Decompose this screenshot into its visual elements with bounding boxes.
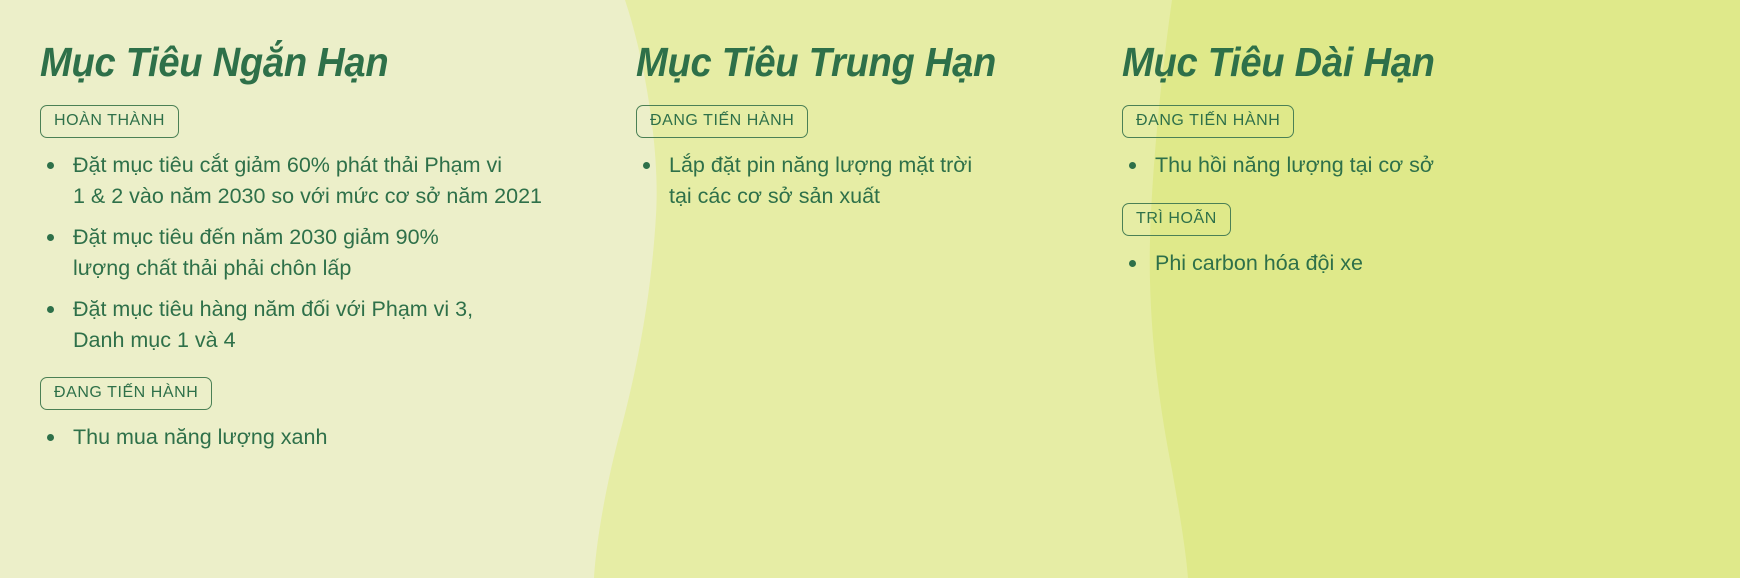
column-title-long-term: Mục Tiêu Dài Hạn <box>1122 42 1661 83</box>
list-item-line: Thu hồi năng lượng tại cơ sở <box>1155 150 1702 181</box>
status-badge[interactable]: TRÌ HOÃN <box>1122 203 1231 236</box>
goal-group: HOÀN THÀNH Đặt mục tiêu cắt giảm 60% phá… <box>40 105 600 355</box>
list-item: Đặt mục tiêu đến năm 2030 giảm 90% lượng… <box>40 222 600 283</box>
status-badge-wrap: HOÀN THÀNH <box>40 105 600 138</box>
column-long-term: Mục Tiêu Dài Hạn ĐANG TIẾN HÀNH Thu hồi … <box>1122 0 1702 278</box>
list-item: Thu mua năng lượng xanh <box>40 422 600 453</box>
column-medium-term: Mục Tiêu Trung Hạn ĐANG TIẾN HÀNH Lắp đặ… <box>636 0 1066 211</box>
list-item-line: Danh mục 1 và 4 <box>73 325 600 356</box>
goals-panel: Mục Tiêu Ngắn Hạn HOÀN THÀNH Đặt mục tiê… <box>0 0 1740 578</box>
list-item: Thu hồi năng lượng tại cơ sở <box>1122 150 1702 181</box>
status-badge[interactable]: ĐANG TIẾN HÀNH <box>40 377 212 410</box>
list-item-line: Đặt mục tiêu cắt giảm 60% phát thải Phạm… <box>73 150 600 181</box>
list-item: Phi carbon hóa đội xe <box>1122 248 1702 279</box>
list-item-line: 1 & 2 vào năm 2030 so với mức cơ sở năm … <box>73 181 600 212</box>
status-badge-wrap: ĐANG TIẾN HÀNH <box>636 105 1066 138</box>
status-badge-wrap: ĐANG TIẾN HÀNH <box>1122 105 1702 138</box>
goal-group: TRÌ HOÃN Phi carbon hóa đội xe <box>1122 203 1702 279</box>
status-badge[interactable]: ĐANG TIẾN HÀNH <box>1122 105 1294 138</box>
list-item: Đặt mục tiêu cắt giảm 60% phát thải Phạm… <box>40 150 600 211</box>
goal-list: Thu mua năng lượng xanh <box>40 422 600 453</box>
goal-list: Thu hồi năng lượng tại cơ sở <box>1122 150 1702 181</box>
column-title-medium-term: Mục Tiêu Trung Hạn <box>636 42 1036 83</box>
list-item-line: Đặt mục tiêu hàng năm đối với Phạm vi 3, <box>73 294 600 325</box>
goal-list: Phi carbon hóa đội xe <box>1122 248 1702 279</box>
list-item-line: Phi carbon hóa đội xe <box>1155 248 1702 279</box>
status-badge-wrap: ĐANG TIẾN HÀNH <box>40 377 600 410</box>
list-item-line: lượng chất thải phải chôn lấp <box>73 253 600 284</box>
column-title-short-term: Mục Tiêu Ngắn Hạn <box>40 42 561 83</box>
list-item-line: Thu mua năng lượng xanh <box>73 422 600 453</box>
status-badge[interactable]: ĐANG TIẾN HÀNH <box>636 105 808 138</box>
status-badge[interactable]: HOÀN THÀNH <box>40 105 179 138</box>
goal-group: ĐANG TIẾN HÀNH Thu hồi năng lượng tại cơ… <box>1122 105 1702 181</box>
column-short-term: Mục Tiêu Ngắn Hạn HOÀN THÀNH Đặt mục tiê… <box>40 0 600 453</box>
list-item-line: Đặt mục tiêu đến năm 2030 giảm 90% <box>73 222 600 253</box>
list-item-line: Lắp đặt pin năng lượng mặt trời <box>669 150 1066 181</box>
goal-group: ĐANG TIẾN HÀNH Lắp đặt pin năng lượng mặ… <box>636 105 1066 211</box>
list-item: Lắp đặt pin năng lượng mặt trời tại các … <box>636 150 1066 211</box>
goal-list: Đặt mục tiêu cắt giảm 60% phát thải Phạm… <box>40 150 600 355</box>
goal-group: ĐANG TIẾN HÀNH Thu mua năng lượng xanh <box>40 377 600 453</box>
status-badge-wrap: TRÌ HOÃN <box>1122 203 1702 236</box>
goal-list: Lắp đặt pin năng lượng mặt trời tại các … <box>636 150 1066 211</box>
list-item-line: tại các cơ sở sản xuất <box>669 181 1066 212</box>
list-item: Đặt mục tiêu hàng năm đối với Phạm vi 3,… <box>40 294 600 355</box>
